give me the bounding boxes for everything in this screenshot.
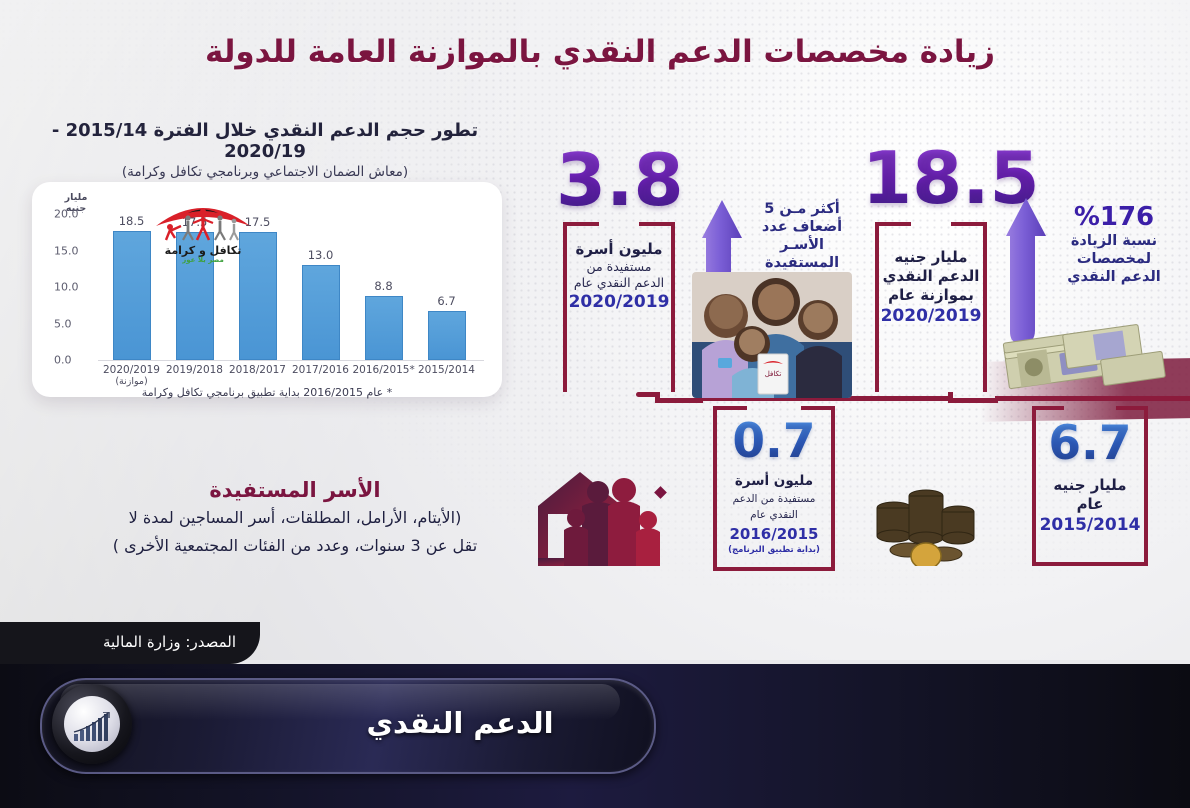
footer-chart-knob <box>52 684 132 764</box>
takaful-logo-graphic <box>148 196 258 246</box>
callout-line-1: مليون أسرة <box>713 472 835 491</box>
chart-footnote: * عام 2016/2015 بداية تطبيق برنامجي تكاف… <box>32 386 502 399</box>
multiplier-line-3: الأسـر المستفيدة <box>742 236 862 272</box>
bar-value-label: 6.7 <box>437 294 455 308</box>
callout-number-3-8: 3.8 <box>556 144 684 216</box>
callout-note: (بداية تطبيق البرنامج) <box>713 545 835 556</box>
callout-line-3: الدعم النقدي عام <box>563 275 675 291</box>
callout-line-3: بموازنة عام <box>875 286 987 305</box>
chart-bar <box>365 296 403 360</box>
y-axis-tick: 15.0 <box>50 244 96 257</box>
chart-bar <box>113 231 151 360</box>
source-text: المصدر: وزارة المالية <box>103 633 236 651</box>
chart-title: تطور حجم الدعم النقدي خلال الفترة 2015/1… <box>30 120 500 162</box>
y-axis-tick: 0.0 <box>50 354 96 367</box>
beneficiary-families-photo: تكافل <box>692 272 852 398</box>
beneficiaries-block: الأسر المستفيدة (الأيتام، الأرامل، المطل… <box>60 478 530 558</box>
increase-line-1: نسبة الزيادة <box>1046 232 1182 250</box>
chart-heading-block: تطور حجم الدعم النقدي خلال الفترة 2015/1… <box>30 120 500 180</box>
callout-increase-percent: %176 نسبة الزيادة لمخصصات الدعم النقدي <box>1046 202 1182 286</box>
callout-line-2: عام <box>1032 495 1148 514</box>
callout-text-families-2020: مليون أسرة مستفيدة من الدعم النقدي عام 2… <box>563 240 675 313</box>
callout-text-families-2016: مليون أسرة مستفيدة من الدعم النقدي عام 2… <box>713 472 835 556</box>
callout-line-2: مستفيدة من <box>563 259 675 275</box>
chart-bar <box>302 265 340 360</box>
y-axis-tick: 5.0 <box>50 317 96 330</box>
callout-text-budget-2015: مليار جنيه عام 2015/2014 <box>1032 476 1148 536</box>
callout-number-6-7: 6.7 <box>1032 420 1148 467</box>
x-axis-tick-label: 2018/2017 <box>227 364 289 388</box>
callout-line-3: النقدي عام <box>713 507 835 523</box>
bar-value-label: 8.8 <box>374 279 392 293</box>
multiplier-line-1: أكثر مـن 5 <box>742 200 862 218</box>
chart-bar-group: 13.0 <box>297 214 345 360</box>
callout-line-1: مليار جنيه <box>875 248 987 267</box>
source-bar: المصدر: وزارة المالية <box>0 622 260 664</box>
x-axis-tick-label: 2020/2019(موازنة) <box>101 364 163 388</box>
connector-segment <box>948 398 998 403</box>
chart-y-axis-ticks: 20.015.010.05.00.0 <box>50 214 96 360</box>
chart-x-axis-line <box>98 360 484 361</box>
callout-line-2: مستفيدة من الدعم <box>713 491 835 507</box>
bar-value-label: 18.5 <box>119 214 145 228</box>
footer-title: الدعم النقدي <box>250 706 670 740</box>
y-axis-tick: 20.0 <box>50 208 96 221</box>
y-axis-tick: 10.0 <box>50 281 96 294</box>
increase-line-2: لمخصصات <box>1046 250 1182 268</box>
coin-stacks-icon <box>868 478 988 566</box>
chart-bar <box>428 311 466 360</box>
callout-line-1: مليون أسرة <box>563 240 675 259</box>
x-axis-tick-label: 2015/2014 <box>416 364 478 388</box>
callout-year: 2020/2019 <box>563 291 675 313</box>
callout-line-1: مليار جنيه <box>1032 476 1148 495</box>
footer: الدعم النقدي مجلس الوزراء المصرى مرك <box>0 664 1190 808</box>
takaful-karama-logo: تكافل و كرامة مصر بلا عوز <box>148 196 258 270</box>
connector-segment <box>995 396 1190 401</box>
beneficiaries-line-2: تقل عن 3 سنوات، وعدد من الفئات المجتمعية… <box>60 533 530 558</box>
callout-year: 2015/2014 <box>1032 514 1148 536</box>
chart-bar-group: 6.7 <box>423 214 471 360</box>
family-home-icon <box>520 462 670 572</box>
x-axis-tick-label: 2016/2015* <box>353 364 415 388</box>
increase-percent-value: %176 <box>1046 202 1182 232</box>
callout-multiplier: أكثر مـن 5 أضعاف عدد الأسـر المستفيدة <box>742 200 862 272</box>
multiplier-line-2: أضعاف عدد <box>742 218 862 236</box>
callout-text-budget-2020: مليار جنيه الدعم النقدي بموازنة عام 2020… <box>875 248 987 327</box>
chart-subtitle: (معاش الضمان الاجتماعي وبرنامجي تكافل وك… <box>30 164 500 180</box>
callout-number-0-7: 0.7 <box>713 418 835 465</box>
chart-x-axis-labels: 2015/20142016/2015*2017/20162018/2017201… <box>100 364 478 388</box>
connector-segment <box>655 398 703 403</box>
beneficiaries-line-1: (الأيتام، الأرامل، المطلقات، أسر المساجي… <box>60 505 530 530</box>
page-title: زيادة مخصصات الدعم النقدي بالموازنة العا… <box>200 34 1000 70</box>
callout-year: 2020/2019 <box>875 305 987 327</box>
takaful-logo-tagline: مصر بلا عوز <box>148 256 258 264</box>
callout-year: 2016/2015 <box>713 523 835 545</box>
bar-value-label: 13.0 <box>308 248 334 262</box>
bar-chart-icon <box>64 696 120 752</box>
beneficiaries-title: الأسر المستفيدة <box>60 478 530 502</box>
x-axis-tick-label: 2019/2018 <box>164 364 226 388</box>
chart-bar-group: 8.8 <box>360 214 408 360</box>
callout-line-2: الدعم النقدي <box>875 267 987 286</box>
svg-text:تكافل: تكافل <box>765 370 782 378</box>
infographic-canvas: زيادة مخصصات الدعم النقدي بالموازنة العا… <box>0 0 1190 808</box>
banknote-stacks-icon <box>1000 318 1170 396</box>
x-axis-tick-label: 2017/2016 <box>290 364 352 388</box>
increase-line-3: الدعم النقدي <box>1046 268 1182 286</box>
